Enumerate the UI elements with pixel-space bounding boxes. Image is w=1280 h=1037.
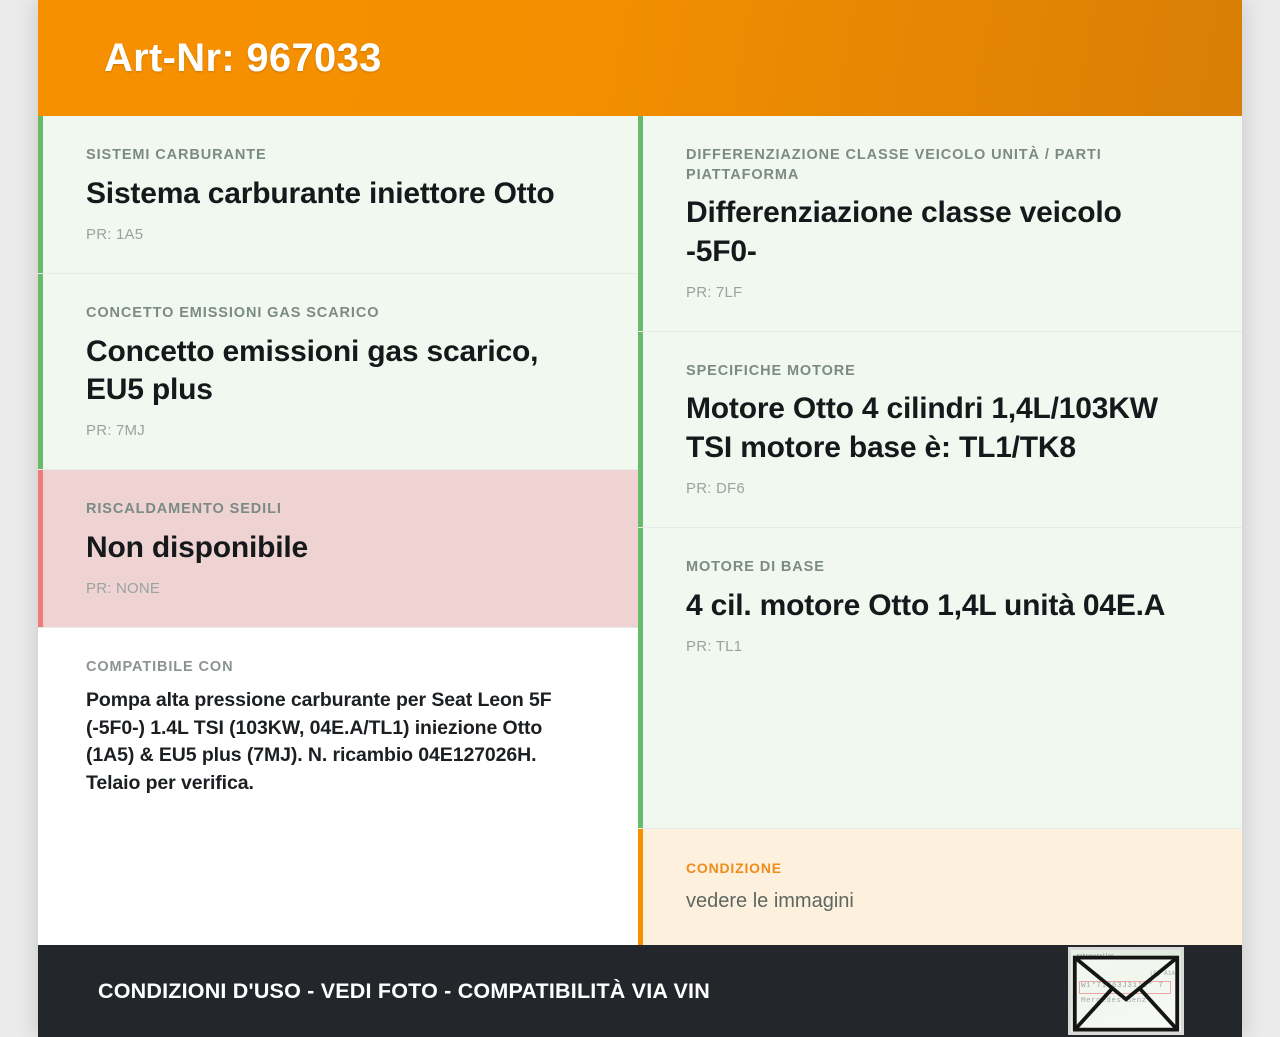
spec-pr-code: PR: 1A5 bbox=[86, 226, 592, 243]
status-accent-bar bbox=[38, 274, 43, 469]
status-accent-bar bbox=[38, 116, 43, 273]
spec-card-differenziazione-classe[interactable]: DIFFERENZIAZIONE CLASSE VEICOLO UNITÀ / … bbox=[638, 116, 1242, 332]
spec-label: COMPATIBILE CON bbox=[86, 658, 592, 678]
listing-page: Art-Nr: 967033 SISTEMI CARBURANTE Sistem… bbox=[38, 0, 1242, 1037]
spec-label: SPECIFICHE MOTORE bbox=[686, 362, 1196, 382]
status-accent-bar bbox=[638, 332, 643, 527]
spec-pr-code: PR: NONE bbox=[86, 580, 592, 597]
spec-title: Sistema carburante iniettore Otto bbox=[86, 175, 592, 213]
spec-pr-code: PR: TL1 bbox=[686, 638, 1196, 655]
page-header: Art-Nr: 967033 bbox=[38, 0, 1242, 116]
article-number-title: Art-Nr: 967033 bbox=[104, 36, 382, 81]
status-accent-bar bbox=[638, 116, 643, 331]
spec-card-riscaldamento-sedili[interactable]: RISCALDAMENTO SEDILI Non disponibile PR:… bbox=[38, 470, 638, 628]
spec-pr-code: PR: 7LF bbox=[686, 284, 1196, 301]
status-accent-bar bbox=[638, 829, 643, 945]
spec-pr-code: PR: 7MJ bbox=[86, 422, 592, 439]
spec-title: 4 cil. motore Otto 1,4L unità 04E.A bbox=[686, 587, 1196, 625]
spec-card-emissioni[interactable]: CONCETTO EMISSIONI GAS SCARICO Concetto … bbox=[38, 274, 638, 470]
compatibility-text: Pompa alta pressione carburante per Seat… bbox=[86, 687, 592, 798]
spec-card-specifiche-motore[interactable]: SPECIFICHE MOTORE Motore Otto 4 cilindri… bbox=[638, 332, 1242, 528]
spec-pr-code: PR: DF6 bbox=[686, 480, 1196, 497]
condition-label: CONDIZIONE bbox=[686, 859, 1196, 878]
spec-card-compatibile-con[interactable]: COMPATIBILE CON Pompa alta pressione car… bbox=[38, 628, 638, 945]
spec-card-condizione[interactable]: CONDIZIONE vedere le immagini bbox=[638, 829, 1242, 945]
spec-title: Motore Otto 4 cilindri 1,4L/103KW TSI mo… bbox=[686, 390, 1196, 467]
right-column: DIFFERENZIAZIONE CLASSE VEICOLO UNITÀ / … bbox=[638, 116, 1242, 945]
spec-columns: SISTEMI CARBURANTE Sistema carburante in… bbox=[38, 116, 1242, 945]
spec-label: SISTEMI CARBURANTE bbox=[86, 146, 592, 166]
condition-text: vedere le immagini bbox=[686, 887, 1196, 915]
spec-label: RISCALDAMENTO SEDILI bbox=[86, 500, 592, 520]
spec-card-sistemi-carburante[interactable]: SISTEMI CARBURANTE Sistema carburante in… bbox=[38, 116, 638, 274]
spec-label: DIFFERENZIAZIONE CLASSE VEICOLO UNITÀ / … bbox=[686, 146, 1196, 185]
envelope-icon bbox=[1071, 950, 1181, 1033]
left-column: SISTEMI CARBURANTE Sistema carburante in… bbox=[38, 116, 638, 945]
spec-title: Concetto emissioni gas scarico, EU5 plus bbox=[86, 333, 592, 410]
spec-label: MOTORE DI BASE bbox=[686, 558, 1196, 578]
spec-label: CONCETTO EMISSIONI GAS SCARICO bbox=[86, 304, 592, 324]
spec-title: Non disponibile bbox=[86, 529, 592, 567]
spec-card-motore-di-base[interactable]: MOTORE DI BASE 4 cil. motore Otto 1,4L u… bbox=[638, 528, 1242, 829]
status-accent-bar bbox=[638, 528, 643, 828]
spec-title: Differenziazione classe veicolo -5F0- bbox=[686, 194, 1196, 271]
footer-notice: CONDIZIONI D'USO - VEDI FOTO - COMPATIBI… bbox=[98, 979, 710, 1004]
vin-document-thumbnail[interactable]: Fahrgestellnr. (E) A1A W1*71463J31*2* 7 … bbox=[1068, 947, 1184, 1035]
page-footer: CONDIZIONI D'USO - VEDI FOTO - COMPATIBI… bbox=[38, 945, 1242, 1037]
status-accent-bar bbox=[38, 470, 43, 627]
